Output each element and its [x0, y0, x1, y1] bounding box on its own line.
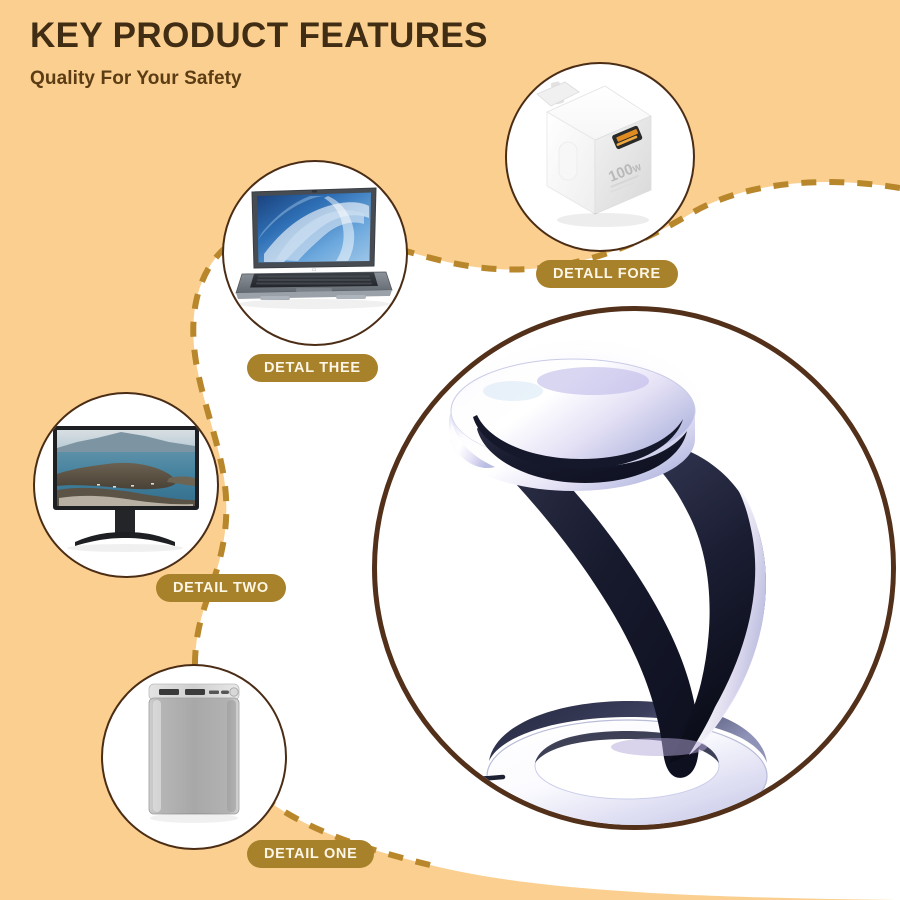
power-bank-usb-c-port	[221, 691, 229, 695]
monitor-icon	[35, 394, 216, 575]
lamp-top-iridescent-2	[483, 381, 543, 401]
lamp-base-iridescent	[611, 738, 707, 756]
page-subtitle: Quality For Your Safety	[30, 68, 488, 90]
power-bank-body-highlight	[153, 700, 161, 812]
page-title: KEY PRODUCT FEATURES	[30, 18, 488, 53]
laptop-brand-mark: ▭	[312, 267, 317, 273]
power-bank-shadow	[150, 813, 238, 823]
infographic-canvas: KEY PRODUCT FEATURES Quality For Your Sa…	[0, 0, 900, 900]
spiral-led-lamp-icon	[377, 311, 891, 825]
monitor-shadow	[67, 544, 183, 552]
hero-product-circle[interactable]	[372, 306, 896, 830]
power-bank-body-shade	[227, 700, 236, 812]
charger-front-dimple	[559, 142, 577, 180]
power-bank-icon	[103, 666, 284, 847]
laptop-foot-right	[336, 295, 366, 299]
badge-detail-one[interactable]: DETAIL ONE	[247, 840, 374, 868]
badge-detal-thee[interactable]: DETAL THEE	[247, 354, 378, 382]
lamp-top-iridescent-1	[537, 367, 649, 395]
power-bank-usb-port-2	[185, 689, 205, 695]
charger-shadow	[557, 213, 649, 227]
thumbnail-laptop[interactable]: ▭	[222, 160, 408, 346]
monitor-screen-photo	[57, 430, 195, 506]
thumbnail-charger[interactable]: 100W	[505, 62, 695, 252]
power-bank-micro-usb-port	[209, 691, 219, 695]
laptop-camera	[312, 190, 317, 193]
laptop-shadow	[238, 299, 390, 309]
thumbnail-monitor[interactable]	[33, 392, 219, 578]
badge-detail-two[interactable]: DETAIL TWO	[156, 574, 286, 602]
usb-wall-charger-icon: 100W	[507, 64, 692, 249]
lamp-power-cable	[377, 759, 503, 779]
thumbnail-power-bank[interactable]	[101, 664, 287, 850]
power-bank-body	[149, 698, 239, 814]
monitor-stand-neck	[115, 510, 135, 534]
laptop-icon: ▭	[224, 162, 405, 343]
power-bank-power-button	[230, 688, 238, 696]
heading-block: KEY PRODUCT FEATURES Quality For Your Sa…	[30, 18, 488, 90]
monitor-stand-base	[75, 532, 175, 546]
laptop-key-rows	[256, 276, 372, 285]
badge-detall-fore[interactable]: DETALL FORE	[536, 260, 678, 288]
power-bank-usb-port-1	[159, 689, 179, 695]
